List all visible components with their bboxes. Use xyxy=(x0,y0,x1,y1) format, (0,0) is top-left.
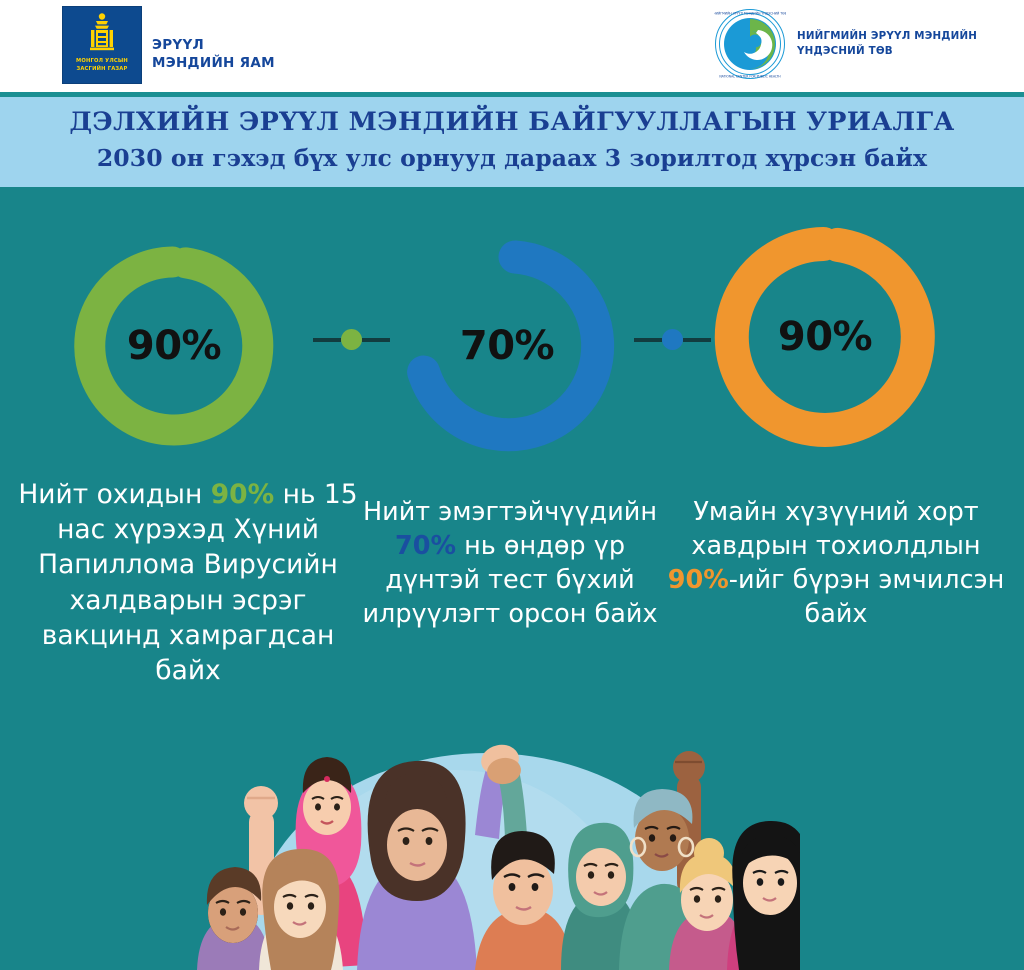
goal-text-treatment-highlight: 90% xyxy=(668,565,729,595)
mongolia-state-emblem: МОНГОЛ УЛСЫН ЗАСГИЙН ГАЗАР xyxy=(62,6,142,84)
goal-text-screening-highlight: 70% xyxy=(395,531,456,561)
goal-text-screening-pre: Нийт эмэгтэйчүүдийн xyxy=(363,497,657,527)
ncph-logo: НИЙГМИЙН ЭРҮҮЛ МЭНДИЙН ҮНДЭСНИЙ ТӨВ NATI… xyxy=(714,8,977,80)
donut-chart-row: 90% 70% 90% xyxy=(0,196,1024,471)
emblem-caption: МОНГОЛ УЛСЫН ЗАСГИЙН ГАЗАР xyxy=(76,58,128,73)
logo-bar: МОНГОЛ УЛСЫН ЗАСГИЙН ГАЗАР ЭРҮҮЛ МЭНДИЙН… xyxy=(0,0,1024,92)
goal-text-hpv: Нийт охидын 90% нь 15 нас хүрэхэд Хүний … xyxy=(12,477,364,688)
figure-lightbrown-left xyxy=(259,849,343,970)
women-solidarity-illustration xyxy=(175,735,800,970)
banner-title: ДЭЛХИЙН ЭРҮҮЛ МЭНДИЙН БАЙГУУЛЛАГЫН УРИАЛ… xyxy=(0,107,1024,137)
connector-line-left-2 xyxy=(634,338,662,342)
figure-purple-center xyxy=(357,761,477,970)
goal-text-treatment-post: -ийг бүрэн эмчилсэн байх xyxy=(729,565,1004,629)
ncph-name-line2: ҮНДЭСНИЙ ТӨВ xyxy=(797,44,977,59)
goal-text-hpv-pre: Нийт охидын xyxy=(18,479,210,510)
connector-dot-green xyxy=(341,329,362,350)
donut-hpv-vaccination: 90% xyxy=(66,238,282,454)
connector-blue xyxy=(634,329,712,350)
connector-dot-blue xyxy=(662,329,683,350)
ministry-logo: МОНГОЛ УЛСЫН ЗАСГИЙН ГАЗАР ЭРҮҮЛ МЭНДИЙН… xyxy=(62,6,275,84)
ministry-name-line2: МЭНДИЙН ЯАМ xyxy=(152,54,275,72)
donut-value-treatment: 90% xyxy=(706,218,944,456)
infographic-page: МОНГОЛ УЛСЫН ЗАСГИЙН ГАЗАР ЭРҮҮЛ МЭНДИЙН… xyxy=(0,0,1024,970)
svg-text:НИЙГМИЙН ЭРҮҮЛ МЭНДИЙН ҮНДЭСНИ: НИЙГМИЙН ЭРҮҮЛ МЭНДИЙН ҮНДЭСНИЙ ТӨВ xyxy=(714,10,786,15)
illustration-svg xyxy=(175,735,800,970)
goal-text-hpv-highlight: 90% xyxy=(211,479,274,510)
banner-subtitle: 2030 он гэхэд бүх улс орнууд дараах 3 зо… xyxy=(0,144,1024,172)
donut-value-hpv: 90% xyxy=(66,238,282,454)
header-banner: ДЭЛХИЙН ЭРҮҮЛ МЭНДИЙН БАЙГУУЛЛАГЫН УРИАЛ… xyxy=(0,97,1024,187)
ncph-name: НИЙГМИЙН ЭРҮҮЛ МЭНДИЙН ҮНДЭСНИЙ ТӨВ xyxy=(797,29,977,59)
ncph-emblem-icon: НИЙГМИЙН ЭРҮҮЛ МЭНДИЙН ҮНДЭСНИЙ ТӨВ NATI… xyxy=(714,8,786,80)
svg-text:NATIONAL CENTER FOR PUBLIC HEA: NATIONAL CENTER FOR PUBLIC HEALTH xyxy=(719,75,781,79)
soyombo-icon xyxy=(85,12,119,56)
donut-value-screening: 70% xyxy=(401,232,629,460)
ministry-name-line1: ЭРҮҮЛ xyxy=(152,36,275,54)
emblem-caption-line2: ЗАСГИЙН ГАЗАР xyxy=(76,66,127,72)
connector-line-left xyxy=(313,338,341,342)
donut-treatment: 90% xyxy=(706,218,944,456)
donut-screening: 70% xyxy=(401,232,629,460)
ministry-name: ЭРҮҮЛ МЭНДИЙН ЯАМ xyxy=(152,36,275,84)
goal-text-screening: Нийт эмэгтэйчүүдийн 70% нь өндөр үр дүнт… xyxy=(352,496,668,632)
goal-text-treatment: Умайн хүзүүний хорт хавдрын тохиолдлын 9… xyxy=(660,496,1012,632)
connector-line-right xyxy=(362,338,390,342)
connector-green xyxy=(313,329,391,350)
figure-black-hair-right xyxy=(727,821,800,970)
ncph-name-line1: НИЙГМИЙН ЭРҮҮЛ МЭНДИЙН xyxy=(797,29,977,44)
goal-text-hpv-post: нь 15 нас хүрэхэд Хүний Папиллома Вируси… xyxy=(38,479,358,686)
goal-text-columns: Нийт охидын 90% нь 15 нас хүрэхэд Хүний … xyxy=(0,472,1024,742)
emblem-caption-line1: МОНГОЛ УЛСЫН xyxy=(76,58,128,64)
goal-text-treatment-pre: Умайн хүзүүний хорт хавдрын тохиолдлын xyxy=(691,497,980,561)
